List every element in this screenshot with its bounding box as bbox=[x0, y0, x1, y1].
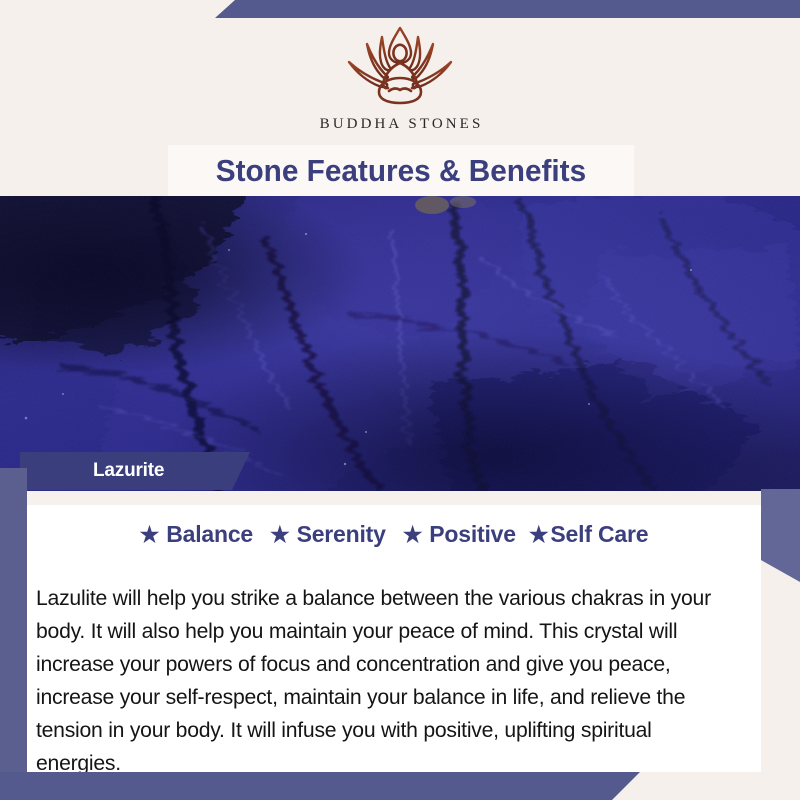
decor-band-left bbox=[0, 468, 27, 780]
stone-name-text: Lazurite bbox=[93, 460, 164, 482]
benefit-item-balance: ★ Balance bbox=[140, 521, 253, 548]
brand-logo: BUDDHA STONES bbox=[0, 22, 800, 133]
stone-name-badge: Lazurite bbox=[20, 452, 250, 490]
benefit-item-serenity: ★ Serenity bbox=[270, 521, 386, 548]
benefit-label: Balance bbox=[166, 521, 253, 548]
page-title: Stone Features & Benefits bbox=[216, 153, 586, 189]
benefits-list: ★ Balance ★ Serenity ★ Positive ★ Self C… bbox=[27, 521, 761, 548]
lazurite-stone-photo bbox=[0, 196, 800, 491]
decor-band-bottom bbox=[0, 772, 640, 800]
star-icon: ★ bbox=[140, 524, 160, 546]
lotus-meditation-icon bbox=[341, 22, 459, 114]
star-icon: ★ bbox=[270, 524, 290, 546]
decor-band-top bbox=[215, 0, 800, 18]
star-icon: ★ bbox=[403, 524, 423, 546]
stone-description: Lazulite will help you strike a balance … bbox=[36, 582, 737, 780]
benefit-label: Self Care bbox=[550, 521, 648, 548]
stone-benefits-poster: Lazurite bbox=[0, 0, 800, 800]
brand-name: BUDDHA STONES bbox=[0, 116, 800, 133]
benefit-item-self-care: ★ Self Care bbox=[529, 521, 648, 548]
benefit-label: Positive bbox=[429, 521, 516, 548]
description-card: ★ Balance ★ Serenity ★ Positive ★ Self C… bbox=[27, 491, 761, 772]
benefit-item-positive: ★ Positive bbox=[403, 521, 516, 548]
decor-band-right bbox=[761, 489, 800, 582]
star-icon: ★ bbox=[529, 524, 549, 546]
benefit-label: Serenity bbox=[297, 521, 386, 548]
page-title-plate: Stone Features & Benefits bbox=[168, 145, 634, 196]
card-top-tint bbox=[27, 491, 761, 505]
